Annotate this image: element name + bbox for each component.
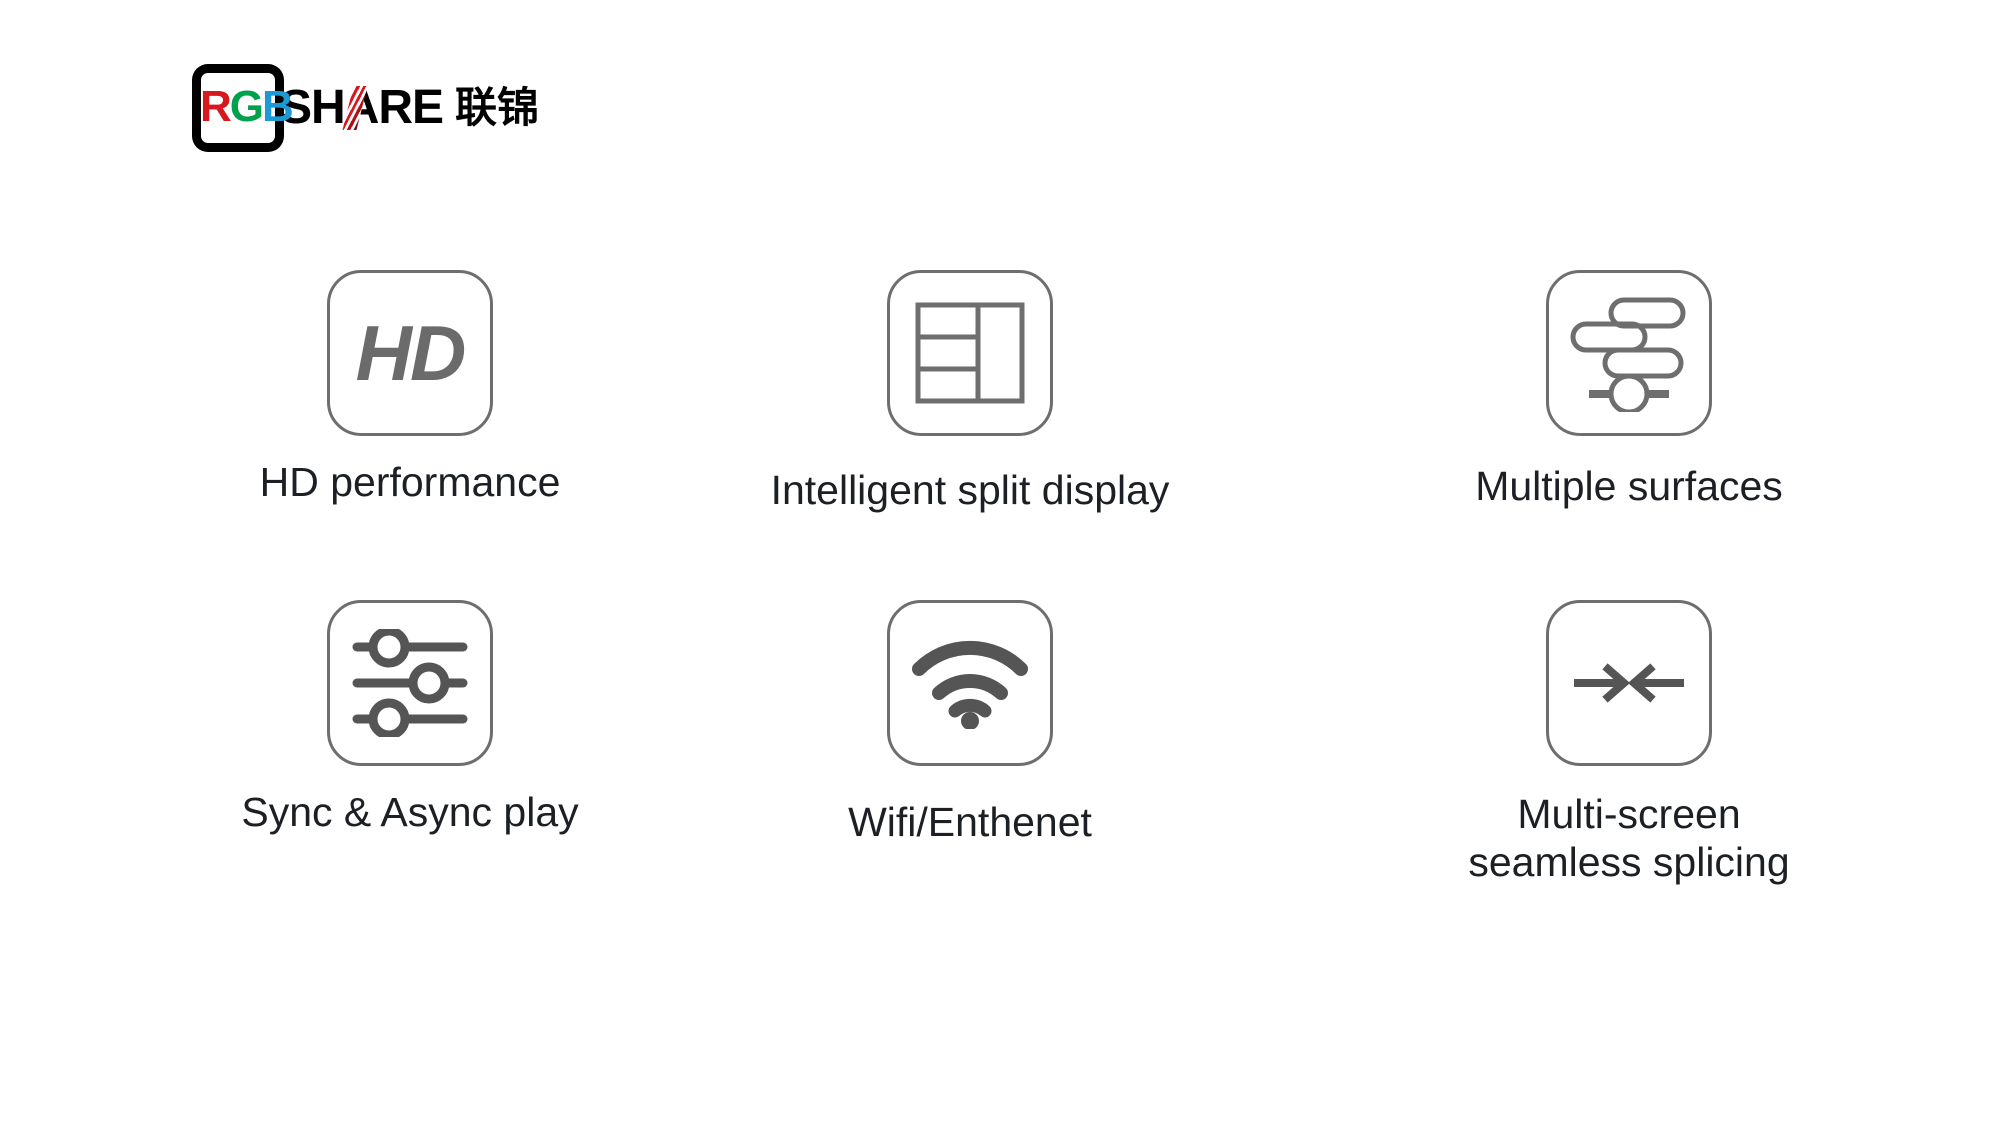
rgb-bracket-mark: RGB <box>192 64 284 152</box>
logo-letter-g: G <box>230 82 262 131</box>
logo-chinese-name: 联锦 <box>455 84 539 132</box>
sliders-icon <box>327 600 493 766</box>
feature-item-multiple-surfaces[interactable]: Multiple surfaces <box>1240 270 2000 600</box>
feature-item-wifi-ethernet[interactable]: Wifi/Enthenet <box>700 600 1240 900</box>
hd-icon-label: HD <box>356 314 465 392</box>
feature-grid: HD HD performance Intelligent split disp… <box>0 270 2000 900</box>
split-layout-icon <box>887 270 1053 436</box>
feature-item-hd-performance[interactable]: HD HD performance <box>0 270 700 600</box>
feature-item-multi-screen[interactable]: Multi-screen seamless splicing <box>1240 600 2000 900</box>
multiple-surfaces-icon <box>1546 270 1712 436</box>
wordmark-suffix: RE <box>378 81 443 134</box>
logo-letter-r: R <box>200 82 230 131</box>
feature-label-sync-async-play: Sync & Async play <box>241 788 578 836</box>
feature-highlights-page: RGB SHARE 联锦 HD HD performance <box>0 0 2000 1125</box>
hd-icon: HD <box>327 270 493 436</box>
feature-row-1: HD HD performance Intelligent split disp… <box>0 270 2000 600</box>
feature-row-2: Sync & Async play Wifi/Enthenet <box>0 600 2000 900</box>
logo-wordmark: SHARE <box>280 84 443 132</box>
feature-label-split-display: Intelligent split display <box>771 466 1170 514</box>
wordmark-a-striped: A <box>345 84 379 132</box>
converge-arrows-icon <box>1546 600 1712 766</box>
rgb-letters: RGB <box>200 85 292 129</box>
brand-logo: RGB SHARE 联锦 <box>192 64 539 152</box>
feature-item-sync-async-play[interactable]: Sync & Async play <box>0 600 700 900</box>
feature-item-split-display[interactable]: Intelligent split display <box>700 270 1240 600</box>
wifi-icon <box>887 600 1053 766</box>
feature-label-hd-performance: HD performance <box>260 458 561 506</box>
feature-label-multiple-surfaces: Multiple surfaces <box>1475 462 1783 510</box>
feature-label-wifi-ethernet: Wifi/Enthenet <box>848 798 1092 846</box>
feature-label-multi-screen: Multi-screen seamless splicing <box>1468 790 1789 886</box>
logo-letter-b: B <box>262 82 292 131</box>
